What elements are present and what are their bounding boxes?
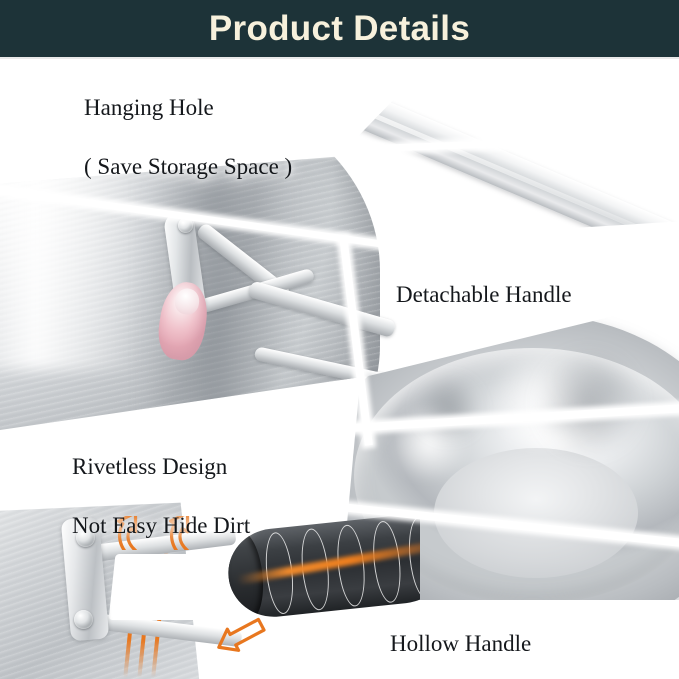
label-subtitle: ( Save Storage Space )	[84, 152, 292, 181]
label-subtitle: Not Easy Hide Dirt	[72, 511, 250, 540]
product-details-infographic: Product Details	[0, 0, 679, 679]
fingernail	[173, 287, 201, 316]
header-banner: Product Details	[0, 0, 679, 57]
label-title: Hanging Hole	[84, 93, 292, 122]
skillet-base	[434, 448, 638, 578]
label-title: Hollow Handle	[390, 629, 617, 658]
rivet-icon	[74, 610, 93, 629]
label-detachable-handle: Detachable Handle	[396, 251, 572, 339]
tube-ring	[370, 520, 404, 604]
label-title: Rivetless Design	[72, 452, 250, 481]
label-title: Detachable Handle	[396, 280, 572, 309]
heat-arrow-in-icon	[212, 614, 268, 658]
label-hanging-hole: Hanging Hole ( Save Storage Space )	[84, 64, 292, 211]
header-divider	[0, 57, 679, 59]
hanging-hole-icon	[294, 74, 341, 107]
label-hollow-handle: Hollow Handle ( Reduce Heat Transfer )	[390, 600, 617, 679]
interior-reflection	[534, 348, 644, 458]
page-title: Product Details	[209, 11, 470, 46]
label-rivetless-design: Rivetless Design Not Easy Hide Dirt	[72, 423, 250, 570]
interior-reflection	[414, 378, 484, 438]
tube-ring	[405, 516, 420, 600]
